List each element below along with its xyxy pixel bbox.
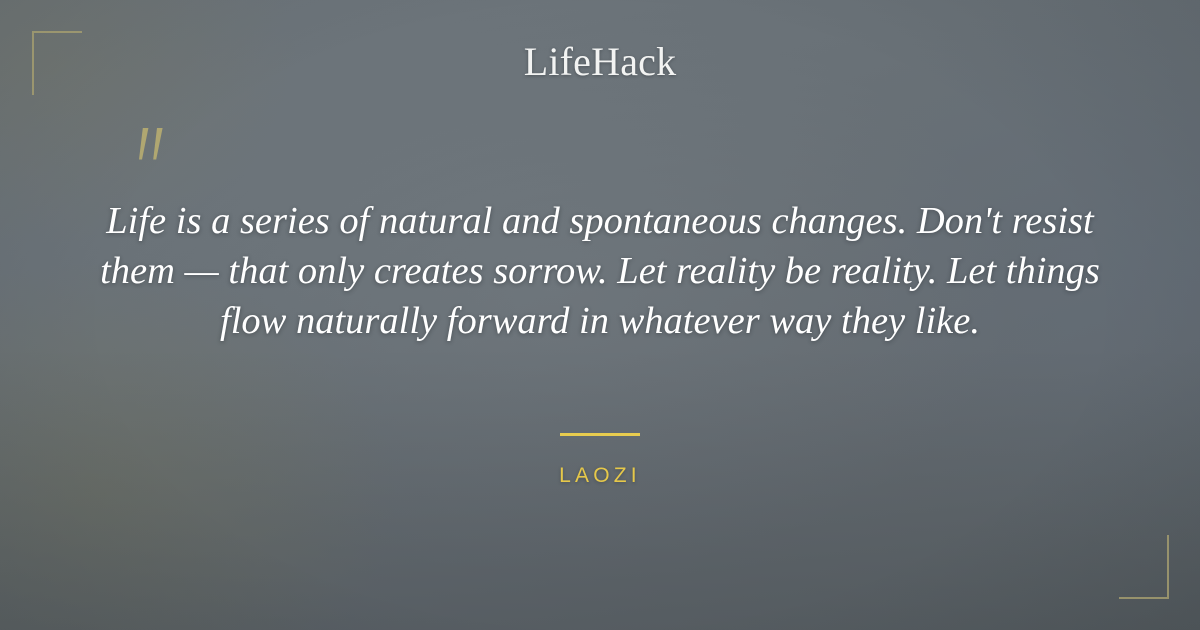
- double-quote-mark-icon: [133, 126, 173, 170]
- quote-card: LifeHack Life is a series of natural and…: [0, 0, 1200, 630]
- gold-divider: [560, 433, 640, 436]
- corner-bracket-bottom-right-icon: [1119, 535, 1169, 599]
- brand-logo: LifeHack: [0, 38, 1200, 85]
- quote-author: LAOZI: [0, 464, 1200, 488]
- quote-text: Life is a series of natural and spontane…: [86, 196, 1114, 346]
